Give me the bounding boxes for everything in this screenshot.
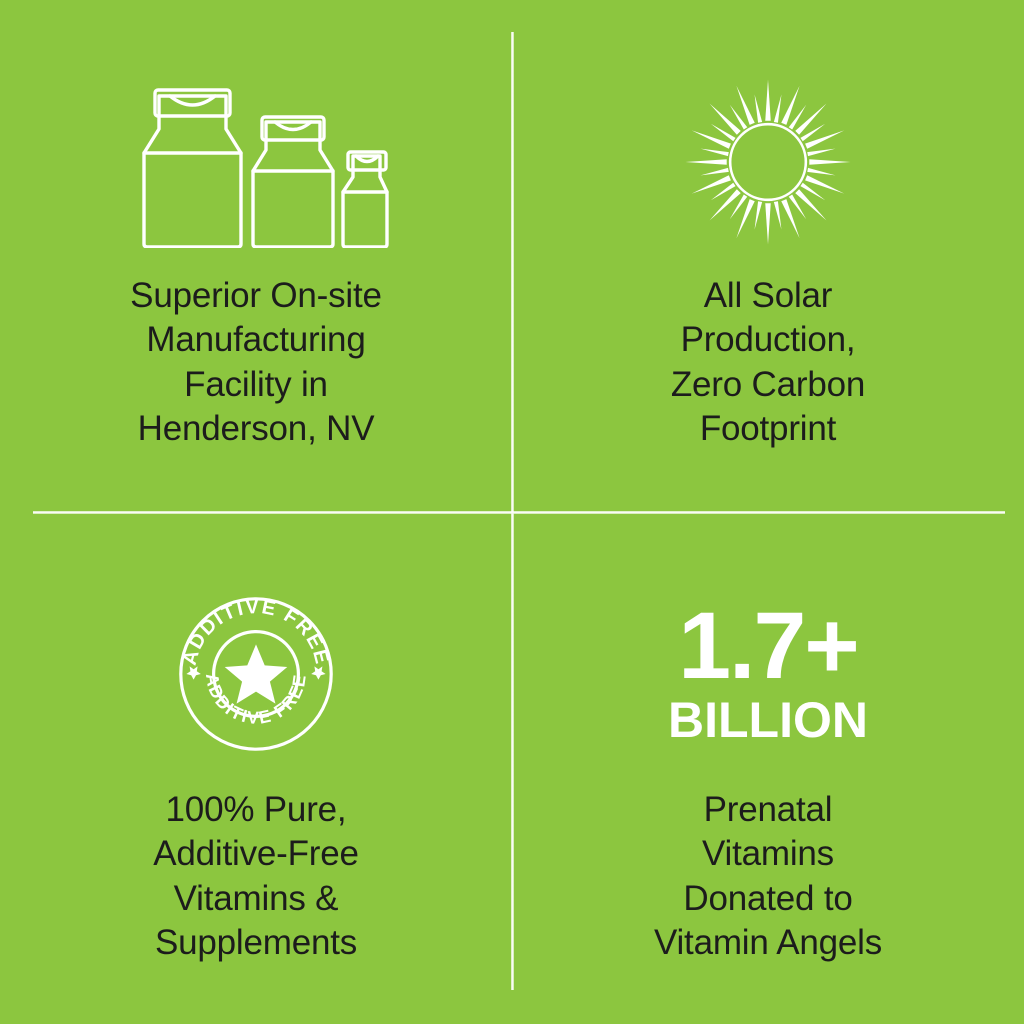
caption-line: Zero Carbon (548, 363, 988, 407)
caption-line: Additive-Free (36, 832, 476, 876)
caption-line: Vitamins & (36, 877, 476, 921)
panel-donations: 1.7+ BILLION Prenatal Vitamins Donated t… (512, 512, 1024, 1024)
caption-line: Prenatal (548, 788, 988, 832)
caption-line: All Solar (548, 274, 988, 318)
panel-solar: All Solar Production, Zero Carbon Footpr… (512, 0, 1024, 512)
panel-manufacturing: Superior On-site Manufacturing Facility … (0, 0, 512, 512)
bottles-icon (122, 78, 390, 248)
donation-statistic: 1.7+ BILLION (668, 594, 868, 754)
caption-line: Manufacturing (36, 318, 476, 362)
caption-line: Facility in (36, 363, 476, 407)
panel-caption: Prenatal Vitamins Donated to Vitamin Ang… (548, 788, 988, 966)
caption-line: Footprint (548, 407, 988, 451)
caption-line: Production, (548, 318, 988, 362)
panel-additive-free: ADDITIVE FREE ADDITIVE FREE 100% Pure, A… (0, 512, 512, 1024)
panel-caption: 100% Pure, Additive-Free Vitamins & Supp… (36, 788, 476, 966)
caption-line: Vitamin Angels (548, 921, 988, 965)
stat-number: 1.7+ (678, 603, 858, 690)
panel-grid: Superior On-site Manufacturing Facility … (0, 0, 1024, 1024)
caption-line: 100% Pure, (36, 788, 476, 832)
caption-line: Vitamins (548, 832, 988, 876)
sun-icon (682, 78, 854, 248)
caption-line: Donated to (548, 877, 988, 921)
badge-star-right (311, 666, 325, 679)
panel-caption: Superior On-site Manufacturing Facility … (36, 274, 476, 452)
stat-label: BILLION (668, 695, 868, 745)
badge-star-left (186, 666, 200, 679)
badge-center-star (225, 644, 288, 703)
caption-line: Supplements (36, 921, 476, 965)
caption-line: Superior On-site (36, 274, 476, 318)
value-prop-board: Superior On-site Manufacturing Facility … (0, 0, 1024, 1024)
panel-caption: All Solar Production, Zero Carbon Footpr… (548, 274, 988, 452)
caption-line: Henderson, NV (36, 407, 476, 451)
additive-free-badge-icon: ADDITIVE FREE ADDITIVE FREE (176, 594, 336, 754)
